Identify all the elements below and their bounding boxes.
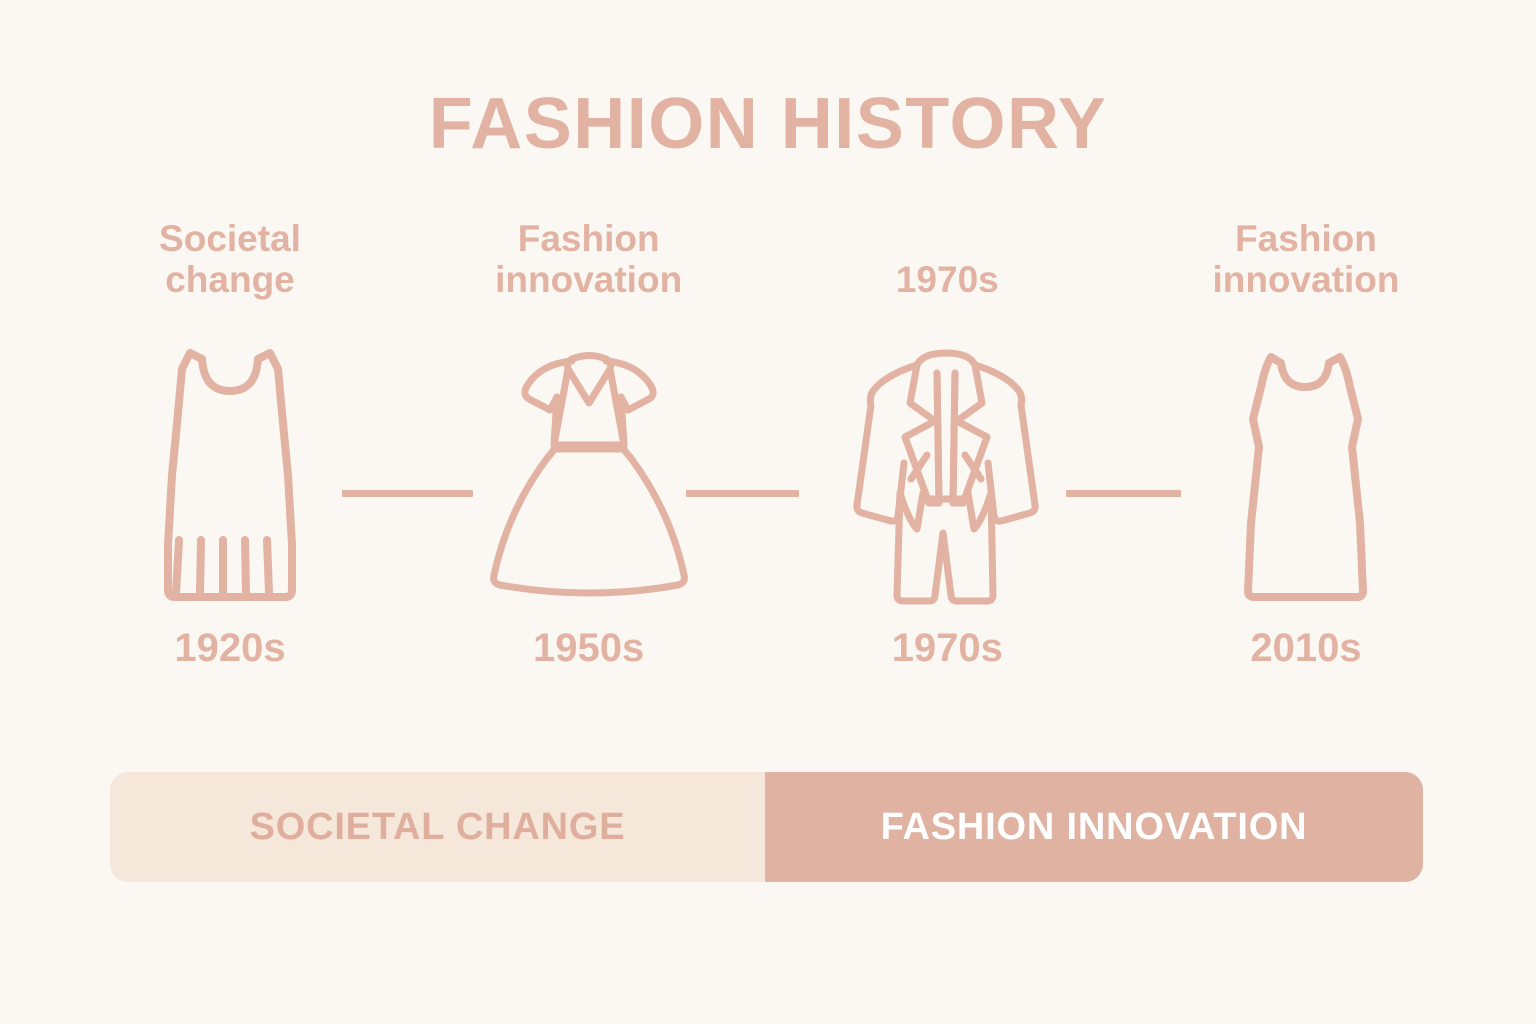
stage-2010s-decade: 2010s: [1250, 628, 1361, 668]
stage-1920s-top-label: Societal change: [100, 200, 360, 330]
timeline-stage-1970s[interactable]: 1970s: [827, 200, 1067, 740]
stage-1950s-top-label-line2: innovation: [495, 259, 682, 300]
stage-1920s-top-label-line2: change: [165, 259, 295, 300]
timeline-stage-2010s[interactable]: Fashion innovation 2010s: [1186, 200, 1426, 740]
legend-segment-fashion-innovation[interactable]: FASHION INNOVATION: [765, 772, 1423, 882]
stage-1950s-top-label-line1: Fashion: [518, 218, 660, 259]
legend-bar: SOCIETAL CHANGE FASHION INNOVATION: [110, 772, 1423, 882]
stage-1970s-top-label-line1: 1970s: [896, 259, 999, 300]
legend-segment-societal-change[interactable]: SOCIETAL CHANGE: [110, 772, 765, 882]
sheath-dress-icon: [1233, 330, 1378, 620]
timeline-connector-2: [686, 490, 799, 497]
timeline-stage-1920s[interactable]: Societal change 1920s: [110, 200, 350, 740]
timeline-connector-1: [342, 490, 473, 497]
stage-1950s-top-label: Fashion innovation: [459, 200, 719, 330]
full-skirt-dress-icon: [484, 330, 694, 620]
timeline: Societal change 1920s Fashion innovation: [110, 200, 1426, 740]
suit-jacket-icon: [847, 330, 1047, 620]
stage-1970s-top-label: 1970s: [817, 200, 1077, 330]
infographic-canvas: FASHION HISTORY Societal change 1920s: [0, 0, 1536, 1024]
stage-1970s-decade: 1970s: [892, 628, 1003, 668]
stage-2010s-top-label: Fashion innovation: [1176, 200, 1436, 330]
stage-2010s-top-label-line1: Fashion: [1235, 218, 1377, 259]
timeline-stage-1950s[interactable]: Fashion innovation: [469, 200, 709, 740]
stage-1920s-top-label-line1: Societal: [159, 218, 301, 259]
page-title: FASHION HISTORY: [0, 88, 1536, 160]
flapper-dress-icon: [155, 330, 305, 620]
stage-1950s-decade: 1950s: [533, 628, 644, 668]
timeline-connector-3: [1066, 490, 1181, 497]
stage-1920s-decade: 1920s: [174, 628, 285, 668]
stage-2010s-top-label-line2: innovation: [1212, 259, 1399, 300]
